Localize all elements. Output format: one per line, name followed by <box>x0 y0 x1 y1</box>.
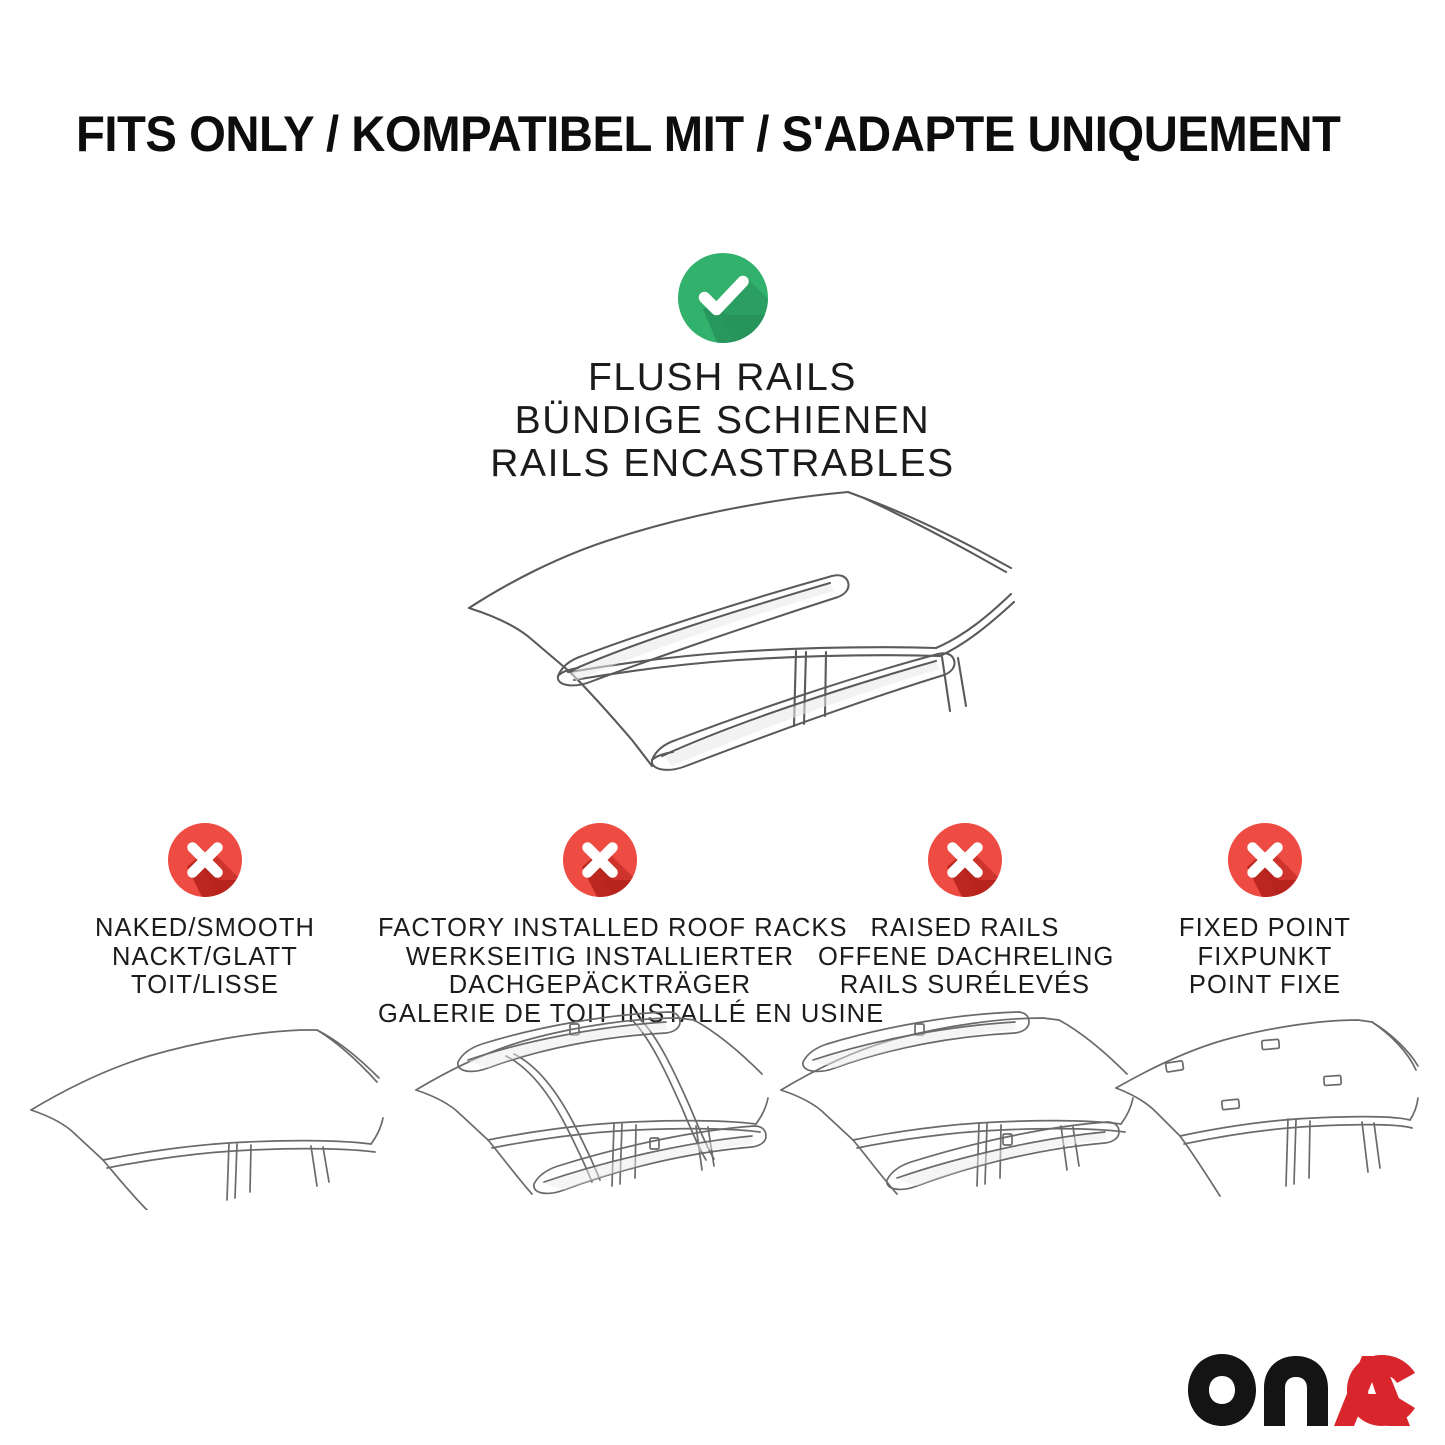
item-label-de2: DACHGEPÄCKTRÄGER <box>378 971 822 1000</box>
item-label-en: FIXED POINT <box>1122 914 1408 943</box>
item-labels: RAISED RAILS OFFENE DACHRELING RAILS SUR… <box>818 914 1112 1000</box>
not-compatible-item-naked-smooth: NAKED/SMOOTH NACKT/GLATT TOIT/LISSE <box>35 822 375 1000</box>
not-compatible-section: NAKED/SMOOTH NACKT/GLATT TOIT/LISSE <box>0 822 1445 1242</box>
item-labels: NAKED/SMOOTH NACKT/GLATT TOIT/LISSE <box>35 914 375 1000</box>
car-roof-fixed-point-illustration <box>1110 1004 1420 1210</box>
green-check-circle-icon <box>677 252 769 344</box>
item-label-de: OFFENE DACHRELING <box>818 943 1112 972</box>
approved-label-en: FLUSH RAILS <box>0 356 1445 399</box>
page-title: FITS ONLY / KOMPATIBEL MIT / S'ADAPTE UN… <box>76 104 1305 164</box>
not-compatible-item-fixed-point: FIXED POINT FIXPUNKT POINT FIXE <box>1122 822 1408 1000</box>
car-roof-flush-rails-illustration <box>466 476 1026 776</box>
approved-label-de: BÜNDIGE SCHIENEN <box>0 399 1445 442</box>
item-labels: FIXED POINT FIXPUNKT POINT FIXE <box>1122 914 1408 1000</box>
item-label-fr: TOIT/LISSE <box>35 971 375 1000</box>
red-cross-circle-icon <box>1227 822 1303 898</box>
approved-labels: FLUSH RAILS BÜNDIGE SCHIENEN RAILS ENCAS… <box>0 356 1445 485</box>
item-label-fr: RAILS SURÉLEVÉS <box>818 971 1112 1000</box>
item-label-de: FIXPUNKT <box>1122 943 1408 972</box>
item-label-en: NAKED/SMOOTH <box>35 914 375 943</box>
item-label-en: RAISED RAILS <box>818 914 1112 943</box>
red-cross-circle-icon <box>167 822 243 898</box>
item-label-de: NACKT/GLATT <box>35 943 375 972</box>
red-cross-circle-icon <box>927 822 1003 898</box>
car-roof-factory-rack-illustration <box>410 998 790 1210</box>
item-label-en: FACTORY INSTALLED ROOF RACKS <box>378 914 822 943</box>
item-label-fr: POINT FIXE <box>1122 971 1408 1000</box>
red-cross-circle-icon <box>562 822 638 898</box>
omac-logo <box>1186 1352 1416 1428</box>
car-roof-raised-rails-illustration <box>775 998 1155 1210</box>
not-compatible-item-raised-rails: RAISED RAILS OFFENE DACHRELING RAILS SUR… <box>818 822 1112 1000</box>
approved-section: FLUSH RAILS BÜNDIGE SCHIENEN RAILS ENCAS… <box>0 252 1445 485</box>
item-label-de1: WERKSEITIG INSTALLIERTER <box>378 943 822 972</box>
not-compatible-item-factory-roof-racks: FACTORY INSTALLED ROOF RACKS WERKSEITIG … <box>378 822 822 1028</box>
car-roof-naked-illustration <box>25 1010 385 1210</box>
